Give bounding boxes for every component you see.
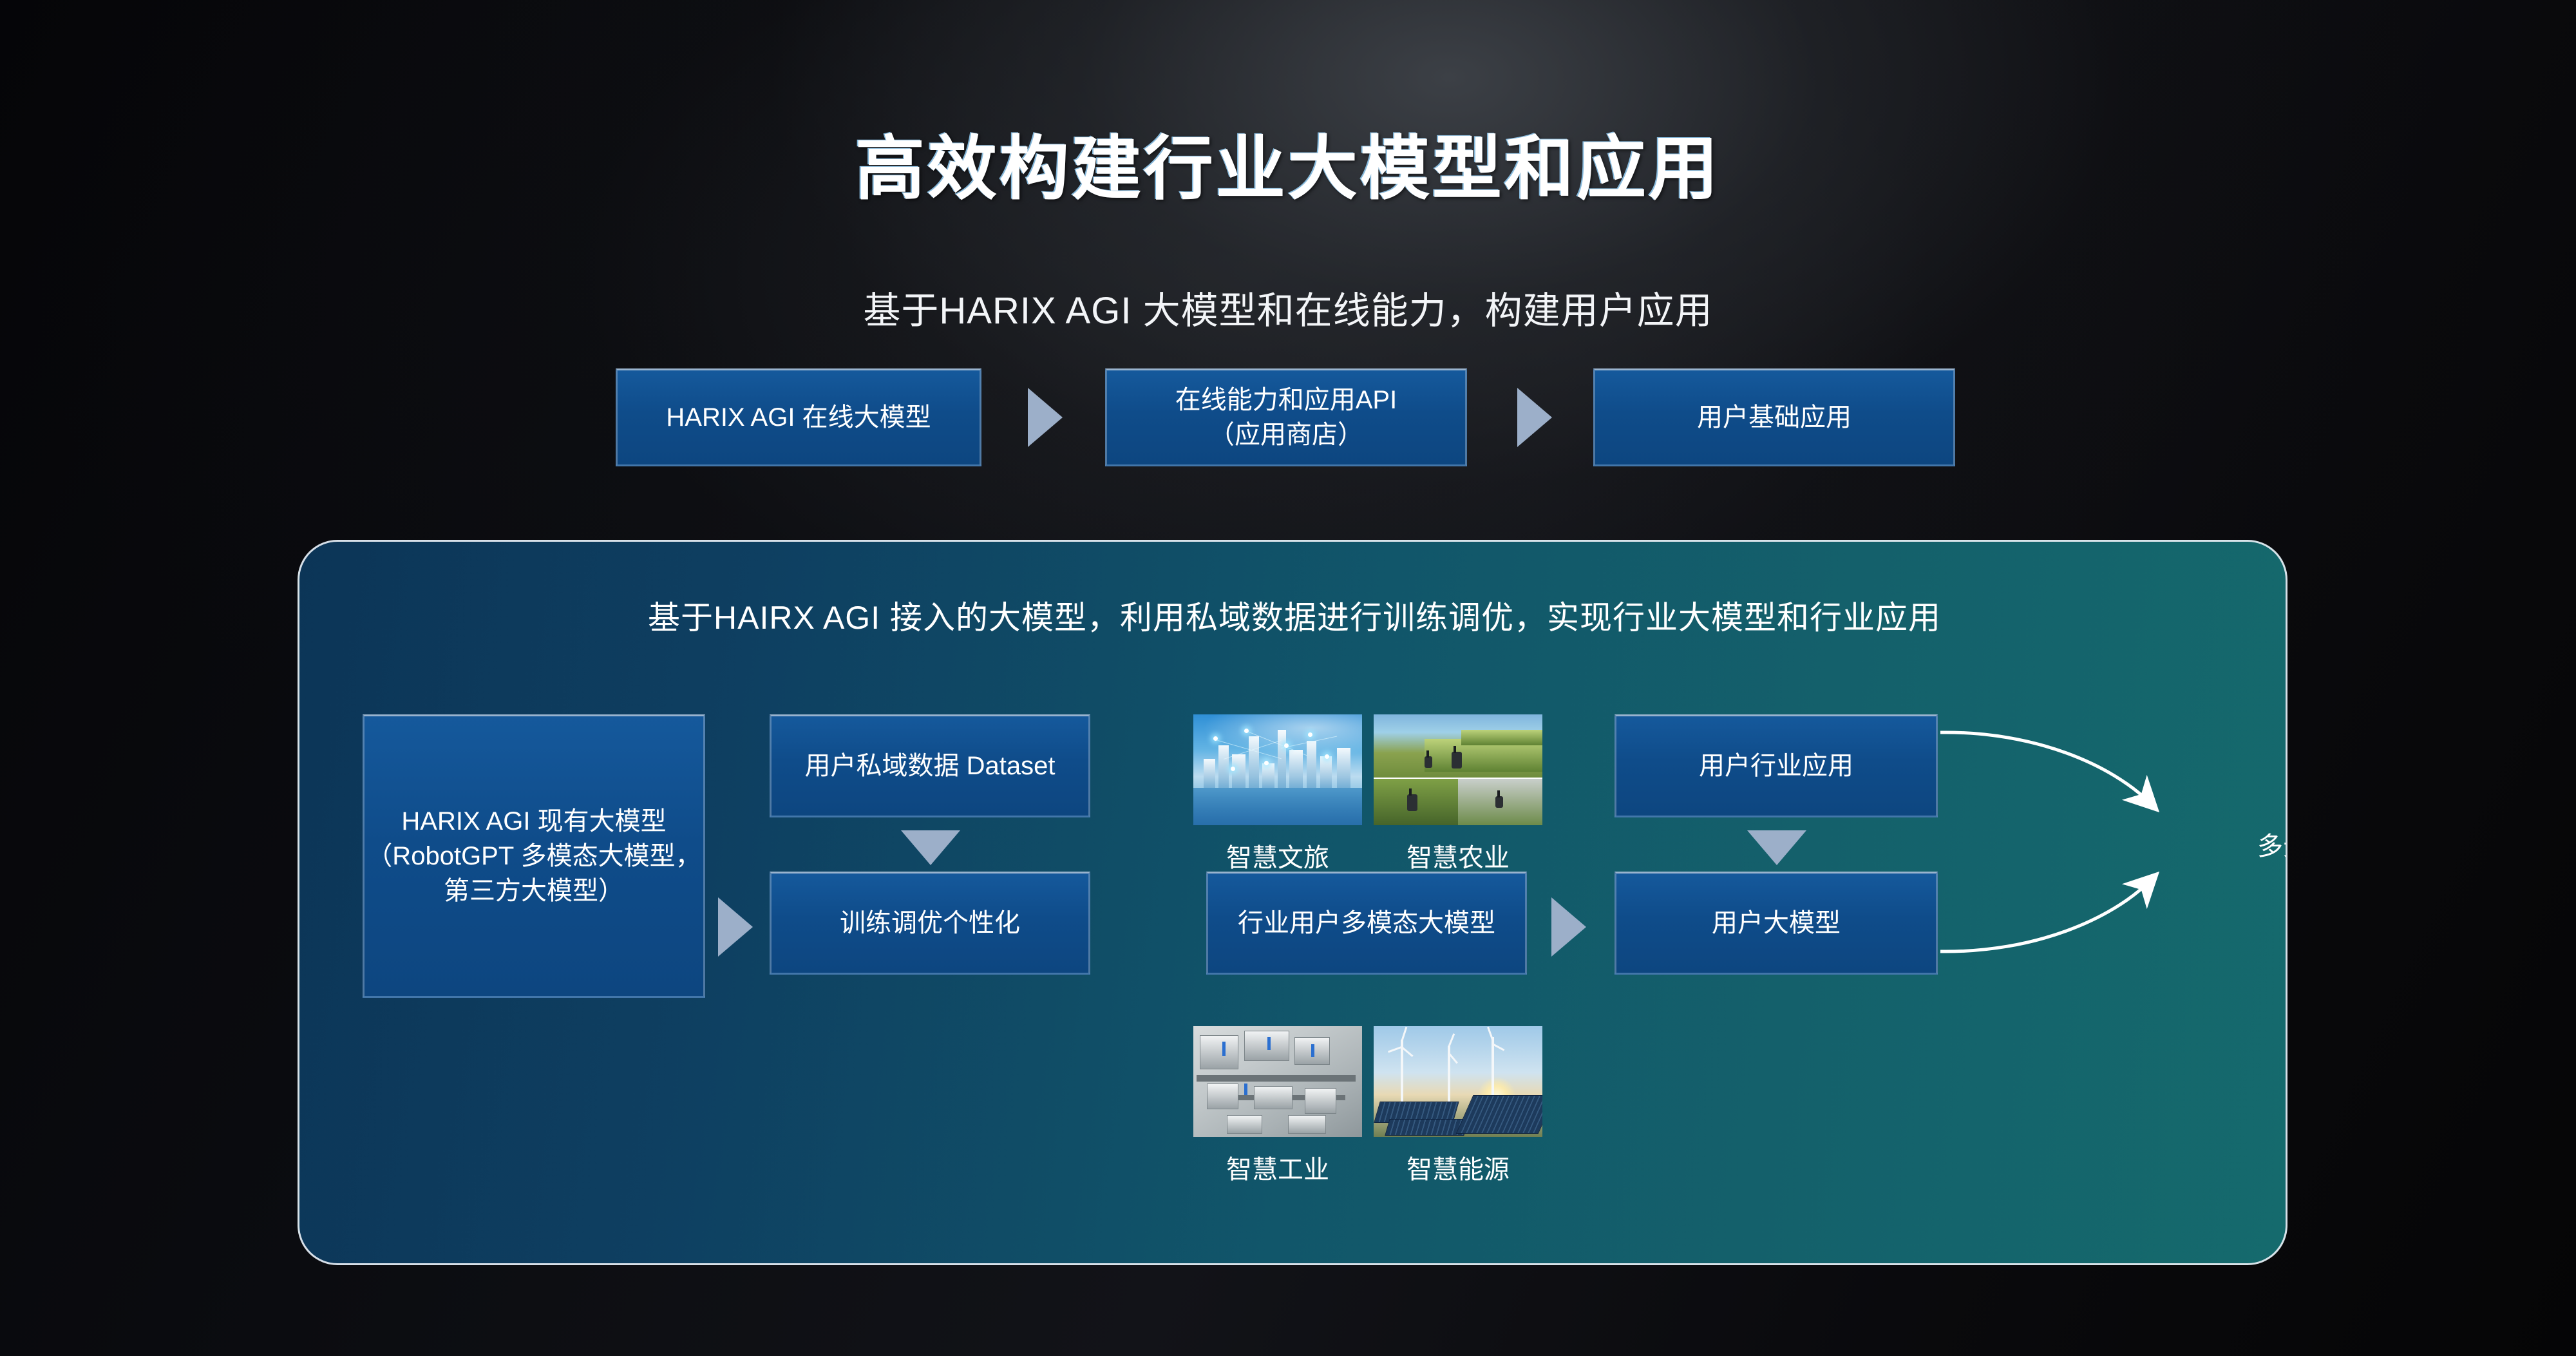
thumbnail-caption-smart-agriculture: 智慧农业 [1335, 837, 1581, 874]
deployment-label: 多元化部署 [2257, 825, 2287, 863]
arrow-down-triangle-icon [1747, 830, 1806, 865]
agriculture-robot-image [1374, 714, 1542, 825]
arrow-down-triangle-icon [901, 830, 960, 865]
deployment-arrows [1938, 694, 2287, 990]
thumbnail-smart-agriculture [1374, 714, 1542, 825]
panel-box-existing-model[interactable]: HARIX AGI 现有大模型 （RobotGPT 多模态大模型， 第三方大模型… [363, 714, 705, 998]
thumbnail-smart-tourism [1193, 714, 1362, 825]
subtitle: 基于HARIX AGI 大模型和在线能力，构建用户应用 [0, 280, 2576, 334]
top-flow-box-api-store[interactable]: 在线能力和应用API （应用商店） [1105, 368, 1467, 466]
panel-box-training[interactable]: 训练调优个性化 [770, 872, 1090, 975]
top-flow-box-online-model[interactable]: HARIX AGI 在线大模型 [616, 368, 981, 466]
thumbnail-caption-smart-energy: 智慧能源 [1335, 1149, 1581, 1186]
wind-solar-energy-image [1374, 1026, 1542, 1137]
top-flow-box-user-base-app[interactable]: 用户基础应用 [1593, 368, 1955, 466]
panel-box-dataset[interactable]: 用户私域数据 Dataset [770, 714, 1090, 817]
smart-city-network-image [1193, 714, 1362, 825]
thumbnail-smart-industry [1193, 1026, 1362, 1137]
arrow-right-triangle-icon [1517, 388, 1552, 447]
arrow-right-triangle-icon [1028, 388, 1063, 447]
panel-box-user-model[interactable]: 用户大模型 [1615, 872, 1938, 975]
panel-box-industry-app[interactable]: 用户行业应用 [1615, 714, 1938, 817]
main-panel: 基于HAIRX AGI 接入的大模型，利用私域数据进行训练调优，实现行业大模型和… [298, 540, 2287, 1265]
page-title: 高效构建行业大模型和应用 [0, 113, 2576, 213]
industrial-factory-image [1193, 1026, 1362, 1137]
arrow-right-triangle-icon [718, 897, 753, 957]
thumbnail-smart-energy [1374, 1026, 1542, 1137]
panel-title: 基于HAIRX AGI 接入的大模型，利用私域数据进行训练调优，实现行业大模型和… [299, 592, 2287, 638]
slide-canvas: 高效构建行业大模型和应用 基于HARIX AGI 大模型和在线能力，构建用户应用… [0, 0, 2576, 1356]
panel-box-multimodal-model[interactable]: 行业用户多模态大模型 [1206, 872, 1527, 975]
arrow-right-triangle-icon [1551, 897, 1586, 957]
